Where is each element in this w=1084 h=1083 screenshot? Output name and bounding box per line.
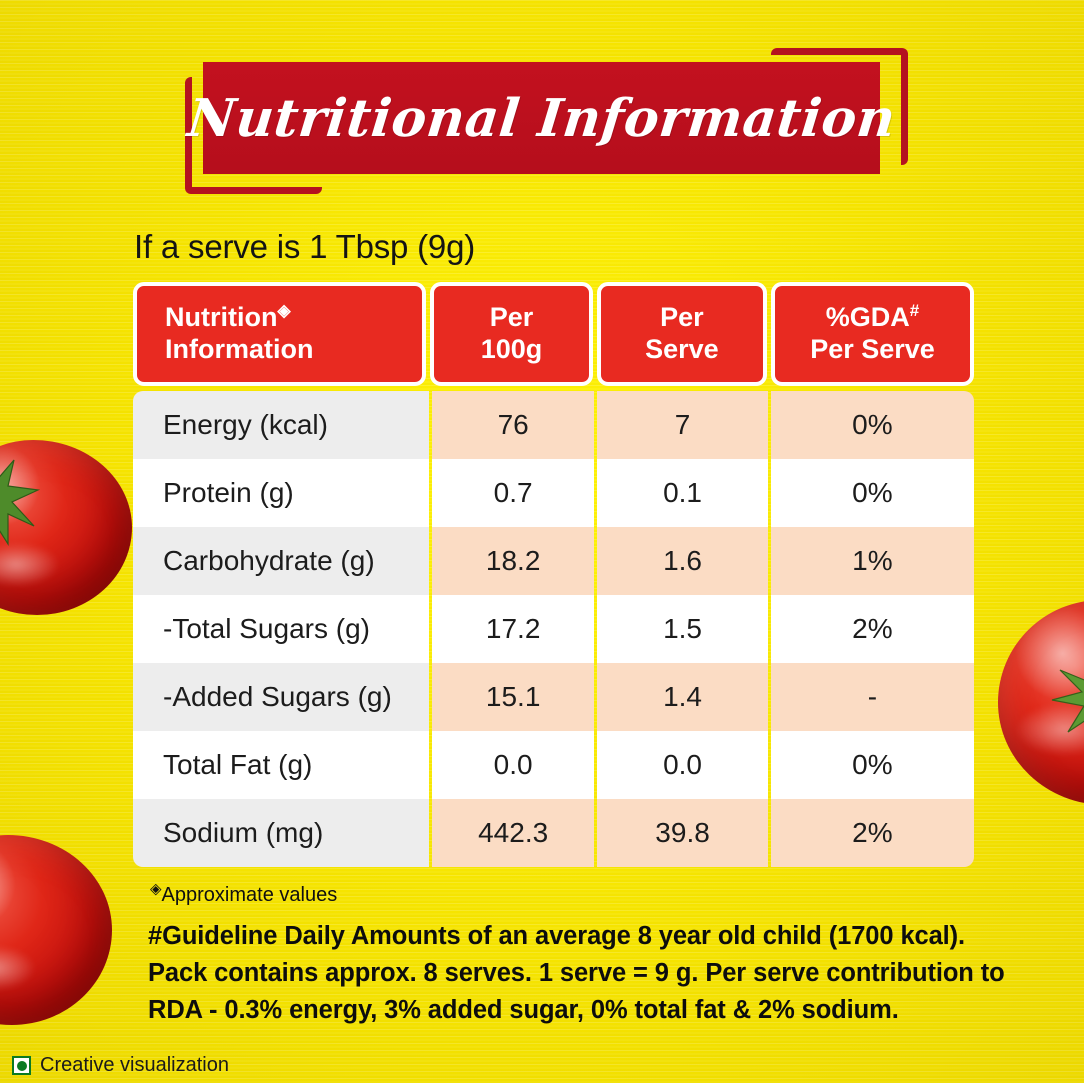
table-cell: 1.4 [597,663,767,731]
table-cell: 442.3 [432,799,594,867]
tomato-body [998,600,1084,805]
footnote-line-1: #Guideline Daily Amounts of an average 8… [148,918,998,955]
table-row: Protein (g) [133,459,429,527]
header-line-1: Per [490,302,534,334]
gda-marker-icon: # [910,301,919,320]
table-row: Sodium (mg) [133,799,429,867]
tomato-highlight [0,945,36,991]
table-header-row: Nutrition◈ Information Per 100g Per Serv… [133,282,974,386]
header-line-1: %GDA# [826,302,919,334]
tomato-stem-icon [998,600,1084,805]
table-header-per-100g: Per 100g [430,282,592,386]
tomato-image-left-lower [0,835,112,1025]
title-banner-group: Nutritional Information [185,48,900,188]
table-body: Energy (kcal) Protein (g) Carbohydrate (… [133,391,974,867]
table-cell: 76 [432,391,594,459]
table-cell: 0.7 [432,459,594,527]
table-cell: 18.2 [432,527,594,595]
table-cell: 0.0 [432,731,594,799]
table-cell: 1.6 [597,527,767,595]
table-row: -Total Sugars (g) [133,595,429,663]
vegetarian-dot [17,1061,27,1071]
table-cell: 0% [771,459,974,527]
header-line-2: 100g [481,334,543,366]
footnote-line-2: Pack contains approx. 8 serves. 1 serve … [148,955,998,992]
table-cell: 1.5 [597,595,767,663]
creative-visualization-label: Creative visualization [40,1054,229,1077]
creative-visualization-row: Creative visualization [12,1054,229,1077]
table-column-per-100g: 76 0.7 18.2 17.2 15.1 0.0 442.3 [432,391,594,867]
title-banner: Nutritional Information [203,62,880,174]
table-cell: 0.0 [597,731,767,799]
nutrition-table: Nutrition◈ Information Per 100g Per Serv… [133,282,974,867]
table-header-nutrition-information: Nutrition◈ Information [133,282,426,386]
table-cell: 1% [771,527,974,595]
approx-marker-icon: ◈ [277,301,290,320]
header-gda-label: %GDA [826,302,910,332]
header-line-1: Nutrition◈ [165,302,291,334]
tomato-highlight [1015,703,1084,756]
header-line-1: Per [660,302,704,334]
footnote-gda-details: #Guideline Daily Amounts of an average 8… [148,918,998,1029]
table-cell: 39.8 [597,799,767,867]
header-line-2: Per Serve [810,334,935,366]
header-line-2: Serve [645,334,719,366]
table-header-gda-per-serve: %GDA# Per Serve [771,282,974,386]
tomato-image-left-upper [0,440,132,615]
footnote-approx-text: Approximate values [162,884,338,906]
tomato-body [0,835,112,1025]
table-row: -Added Sugars (g) [133,663,429,731]
table-column-labels: Energy (kcal) Protein (g) Carbohydrate (… [133,391,429,867]
table-cell: 2% [771,595,974,663]
table-row: Energy (kcal) [133,391,429,459]
footnote-approximate-values: ◈Approximate values [150,884,337,907]
table-cell: - [771,663,974,731]
table-cell: 17.2 [432,595,594,663]
tomato-image-right [998,600,1084,805]
approx-marker-icon: ◈ [150,880,162,897]
table-column-gda: 0% 0% 1% 2% - 0% 2% [771,391,974,867]
page-title: Nutritional Information [185,88,899,149]
vegetarian-symbol-icon [12,1056,31,1075]
table-row: Carbohydrate (g) [133,527,429,595]
table-cell: 7 [597,391,767,459]
tomato-stem-icon [0,440,132,615]
footnote-line-3: RDA - 0.3% energy, 3% added sugar, 0% to… [148,992,998,1029]
table-header-per-serve: Per Serve [597,282,767,386]
tomato-highlight [0,542,60,588]
table-row: Total Fat (g) [133,731,429,799]
table-cell: 0.1 [597,459,767,527]
header-nutrition-label: Nutrition [165,302,277,332]
serve-size-note: If a serve is 1 Tbsp (9g) [134,228,475,266]
tomato-body [0,440,132,615]
header-line-2: Information [165,334,314,366]
table-cell: 15.1 [432,663,594,731]
table-cell: 0% [771,731,974,799]
table-cell: 2% [771,799,974,867]
table-cell: 0% [771,391,974,459]
table-column-per-serve: 7 0.1 1.6 1.5 1.4 0.0 39.8 [597,391,767,867]
